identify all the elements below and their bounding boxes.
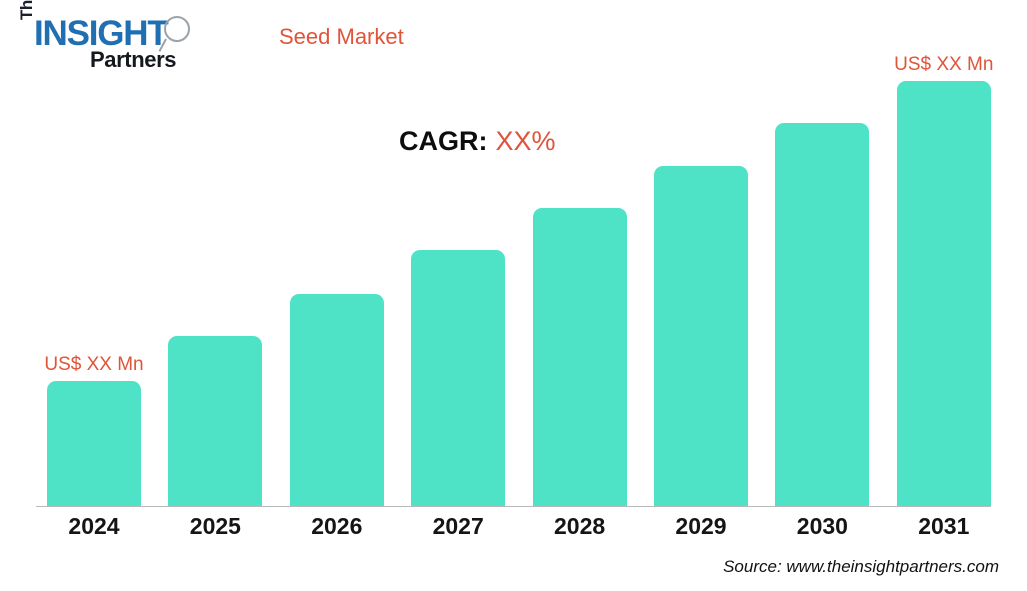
x-tick-2026: 2026	[277, 513, 397, 540]
x-tick-2027: 2027	[398, 513, 518, 540]
source-note: Source: www.theinsightpartners.com	[723, 557, 999, 577]
bar-2025[interactable]	[168, 336, 262, 506]
chart-canvas: The INSIGHT Partners Seed Market CAGR:XX…	[0, 0, 1027, 591]
bar-2028[interactable]	[533, 208, 627, 506]
bar-2029[interactable]	[654, 166, 748, 506]
x-tick-2024: 2024	[34, 513, 154, 540]
plot-area: US$ XX MnUS$ XX Mn 202420252026202720282…	[0, 0, 1027, 591]
x-tick-2025: 2025	[155, 513, 275, 540]
bar-2031[interactable]	[897, 81, 991, 506]
x-tick-2028: 2028	[520, 513, 640, 540]
x-axis-line	[36, 506, 991, 507]
x-tick-2030: 2030	[762, 513, 882, 540]
bar-2026[interactable]	[290, 294, 384, 507]
bar-2027[interactable]	[411, 250, 505, 506]
bar-value-label-2024: US$ XX Mn	[19, 354, 169, 376]
bar-2030[interactable]	[775, 123, 869, 506]
bar-value-label-2031: US$ XX Mn	[869, 54, 1019, 76]
bar-2024[interactable]	[47, 381, 141, 506]
x-tick-2029: 2029	[641, 513, 761, 540]
x-tick-2031: 2031	[884, 513, 1004, 540]
